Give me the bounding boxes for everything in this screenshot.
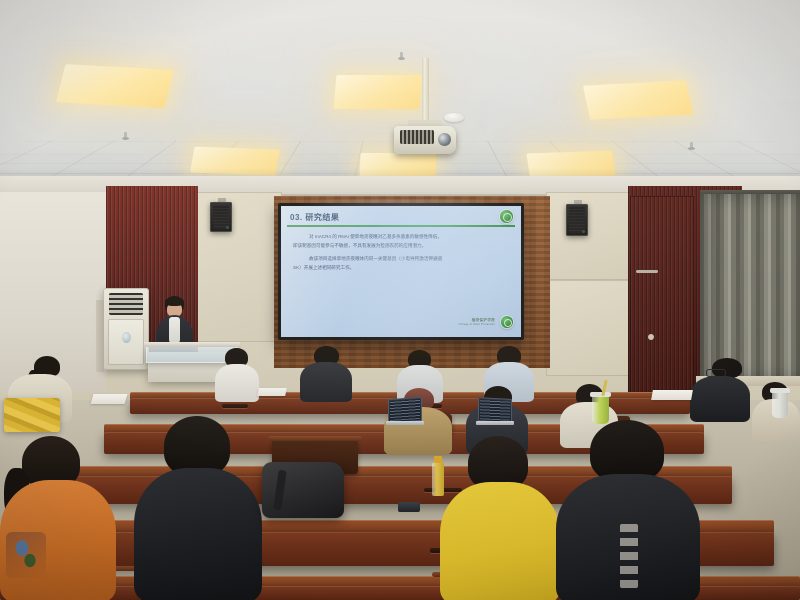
ceiling <box>0 0 800 196</box>
door-knob[interactable] <box>648 334 654 340</box>
door-push-bar[interactable] <box>636 270 658 273</box>
floor-standing-ac-unit <box>103 288 149 370</box>
chair-rail[interactable] <box>268 436 362 441</box>
drink-cup-lid <box>770 388 790 393</box>
person-back-row-white-shirt <box>214 348 260 400</box>
projector-mount-pole <box>422 58 429 122</box>
projection-screen: 03. 研究结果 对 mACR4 的 RNAi 使草地贪夜蛾对乙基多杀菌素的敏感… <box>281 206 521 337</box>
hair <box>590 420 664 482</box>
drink-cup-white[interactable] <box>772 392 788 418</box>
ac-pipe <box>96 300 104 372</box>
ceiling-light-panel-3 <box>583 80 693 119</box>
ac-vent-grille <box>109 293 143 315</box>
ceiling-light-panel-2 <box>334 75 423 109</box>
torso <box>215 364 259 402</box>
torso <box>300 362 352 402</box>
phone-on-desk[interactable] <box>398 502 420 512</box>
torso <box>440 482 560 600</box>
laptop-display <box>480 399 510 421</box>
laptop-right-base <box>476 421 514 425</box>
water-bottle[interactable] <box>432 462 444 496</box>
lecture-hall-photo: 03. 研究结果 对 mACR4 的 RNAi 使草地贪夜蛾对乙基多杀菌素的敏感… <box>0 0 800 600</box>
ac-control-badge[interactable] <box>122 332 131 343</box>
laptop-right[interactable] <box>478 397 512 423</box>
speaker-led <box>582 230 585 233</box>
hair <box>164 416 230 476</box>
person-front-dark-hoodie <box>556 420 704 600</box>
wall-speaker-left <box>210 202 232 232</box>
person-front-yellow-shirt <box>440 436 564 600</box>
speaker-led <box>226 226 229 229</box>
stone-panel-right-a <box>546 192 630 280</box>
smoke-detector <box>444 113 464 122</box>
person-back-row-dark-top <box>300 346 352 400</box>
rear-door[interactable] <box>630 196 694 394</box>
sprinkler-head-1 <box>398 52 405 61</box>
hoodie-back-lettering <box>620 524 638 588</box>
laptop-left[interactable] <box>388 397 422 423</box>
window-curtain <box>700 194 800 380</box>
person-front-black-jacket <box>134 416 266 600</box>
torso <box>690 376 750 422</box>
bottle-cap <box>434 456 442 463</box>
person-right-older-man-glasses <box>690 358 752 420</box>
laptop-display <box>390 399 420 421</box>
wall-speaker-right <box>566 204 588 236</box>
laptop-left-base <box>386 421 424 425</box>
yellow-tote-bag[interactable] <box>4 398 60 432</box>
presenter-hair-front <box>165 297 184 306</box>
torso <box>134 468 262 600</box>
ceiling-light-panel-1 <box>56 64 174 108</box>
papers-on-desk-left[interactable] <box>91 394 128 404</box>
projector-lens <box>438 133 451 146</box>
person-front-orange-sweatshirt <box>0 436 120 600</box>
projector-vent <box>400 130 434 144</box>
stone-panel-right-b <box>546 280 630 376</box>
stone-panel-left <box>196 192 282 342</box>
backpack-on-desk[interactable] <box>262 462 344 518</box>
papers-on-desk-center[interactable] <box>257 388 287 396</box>
projector <box>394 126 456 154</box>
sprinkler-head-3 <box>688 142 695 151</box>
sweatshirt-graphic-print <box>6 532 46 578</box>
papers-on-desk-right[interactable] <box>651 390 693 400</box>
presenter-shirt <box>169 317 180 343</box>
sprinkler-head-2 <box>122 132 129 141</box>
lectern-top-edge <box>144 342 240 347</box>
desk-drawer-pull <box>222 404 248 408</box>
drink-cup-green[interactable] <box>592 396 609 424</box>
screen-glare <box>281 206 521 337</box>
